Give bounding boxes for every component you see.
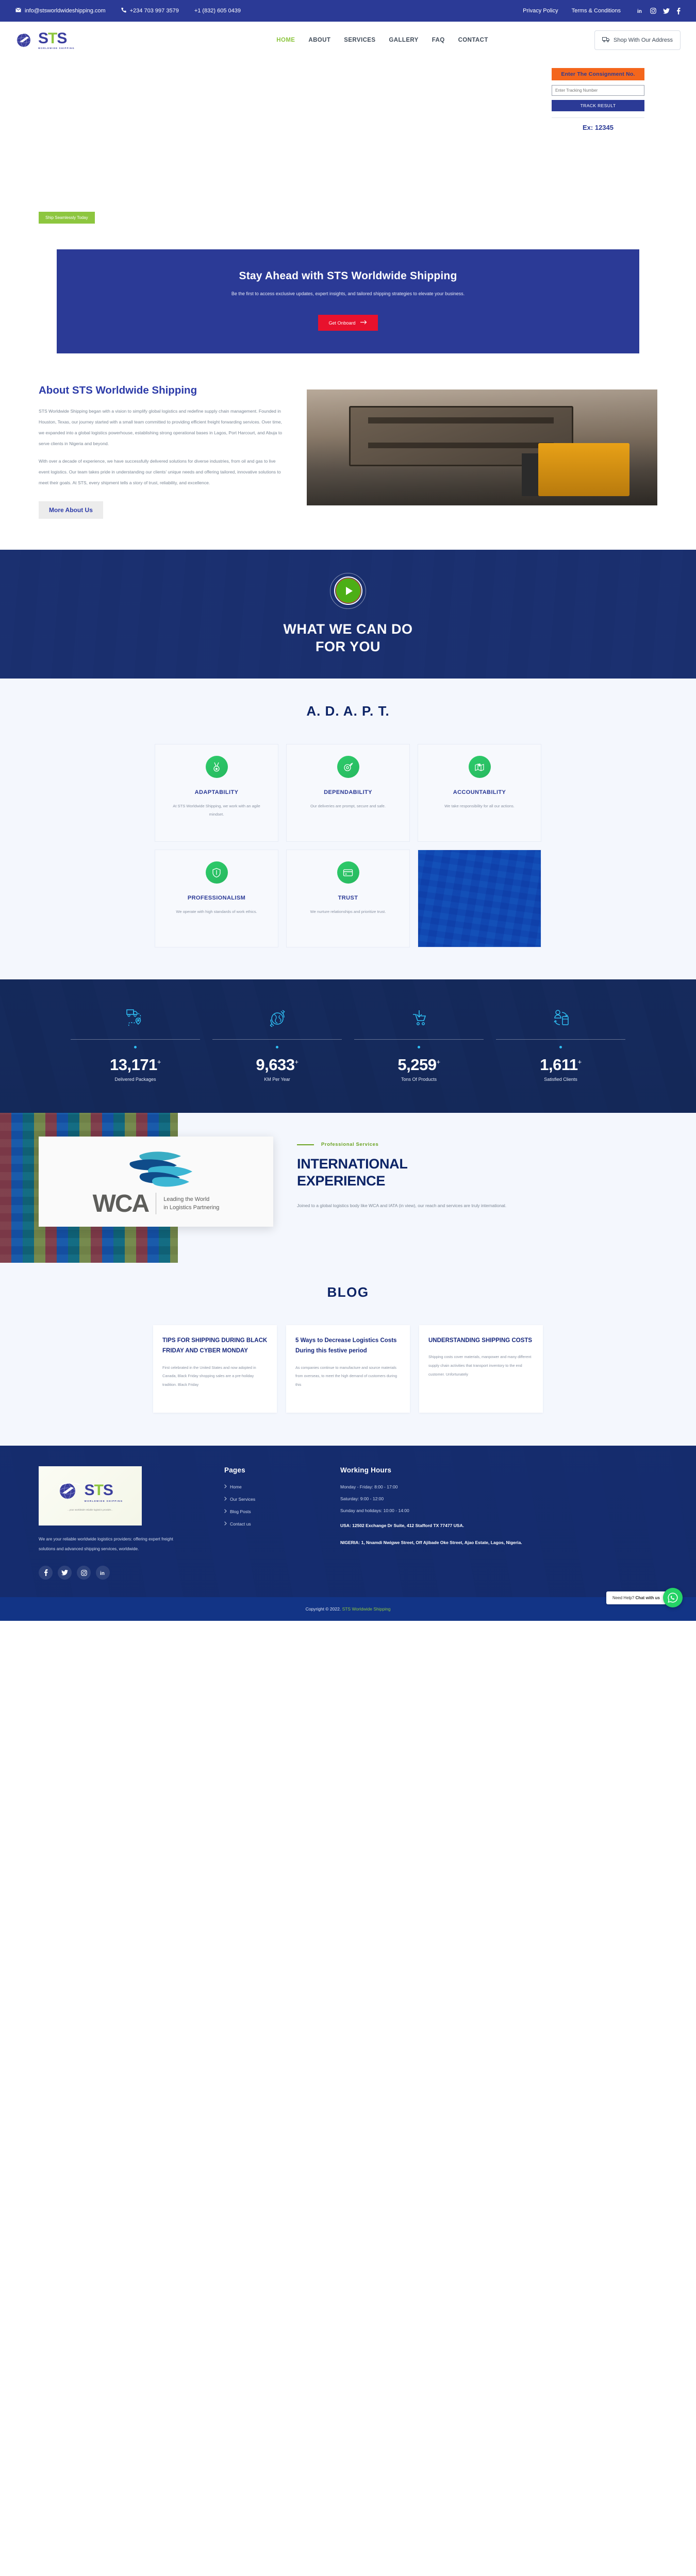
instagram-icon[interactable] bbox=[77, 1566, 91, 1580]
footer-logo-letter-t: T bbox=[94, 1482, 103, 1499]
nav-item-services[interactable]: SERVICES bbox=[344, 37, 375, 43]
about-text-column: About STS Worldwide Shipping STS Worldwi… bbox=[39, 384, 286, 519]
email-contact[interactable]: info@stsworldwideshipping.com bbox=[15, 8, 106, 14]
footer-link-blog-posts[interactable]: Blog Posts bbox=[224, 1509, 320, 1514]
top-bar-links-group: Privacy Policy Terms & Conditions in bbox=[523, 8, 681, 14]
arrow-right-icon bbox=[360, 320, 368, 326]
adapt-card-title: PROFESSIONALISM bbox=[188, 895, 245, 901]
adapt-card-text: We nurture relationships and prioritize … bbox=[310, 908, 386, 916]
newsletter-banner: Stay Ahead with STS Worldwide Shipping B… bbox=[57, 249, 639, 353]
video-heading-line-1: WHAT WE CAN DO bbox=[284, 621, 413, 637]
wca-wordmark: WCA bbox=[93, 1193, 149, 1215]
footer-hours-saturday: Saturday: 9:00 - 12:00 bbox=[340, 1496, 657, 1501]
blog-card[interactable]: 5 Ways to Decrease Logistics Costs Durin… bbox=[286, 1325, 410, 1413]
nav-item-faq[interactable]: FAQ bbox=[432, 37, 445, 43]
svg-text:in: in bbox=[100, 1571, 105, 1576]
footer-link-label: Our Services bbox=[230, 1497, 255, 1502]
adapt-card-adaptability[interactable]: ADAPTABILITY At STS Worldwide Shipping, … bbox=[155, 744, 278, 842]
adapt-card-professionalism[interactable]: PROFESSIONALISM We operate with high sta… bbox=[155, 850, 278, 947]
main-navigation: HOME ABOUT SERVICES GALLERY FAQ CONTACT bbox=[276, 37, 488, 43]
copyright-bar: Copyright © 2022. STS Worldwide Shipping… bbox=[0, 1597, 696, 1621]
play-icon[interactable] bbox=[336, 578, 361, 603]
tracking-divider bbox=[552, 117, 644, 118]
nav-item-gallery[interactable]: GALLERY bbox=[389, 37, 418, 43]
globe-plane-logo-icon bbox=[15, 31, 36, 49]
stat-divider-line bbox=[354, 1039, 484, 1040]
chevron-right-icon bbox=[224, 1484, 227, 1489]
stats-section: 13,171+ Delivered Packages 9,633+ KM Per… bbox=[0, 979, 696, 1113]
forklift-shape bbox=[538, 443, 629, 497]
cart-download-icon bbox=[348, 1006, 490, 1031]
get-onboard-label: Get Onboard bbox=[328, 320, 355, 326]
newsletter-wrapper: Stay Ahead with STS Worldwide Shipping B… bbox=[0, 249, 696, 384]
blog-card-excerpt: As companies continue to manufacture and… bbox=[295, 1364, 401, 1389]
adapt-card-text: We take responsibility for all our actio… bbox=[444, 802, 515, 810]
site-footer: STS WORLDWIDE SHIPPING ...your worldwide… bbox=[0, 1446, 696, 1597]
play-button-outer-ring bbox=[330, 573, 366, 609]
globe-refresh-icon bbox=[206, 1006, 348, 1031]
footer-link-our-services[interactable]: Our Services bbox=[224, 1497, 320, 1502]
chat-widget: Need Help? Chat with us bbox=[606, 1588, 683, 1607]
comet-icon bbox=[337, 756, 359, 778]
track-result-button[interactable]: TRACK RESULT bbox=[552, 100, 644, 111]
chevron-right-icon bbox=[224, 1497, 227, 1502]
footer-pages-column: Pages Home Our Services Blog Posts Conta… bbox=[224, 1466, 320, 1580]
stat-suffix: + bbox=[436, 1058, 440, 1066]
instagram-icon[interactable] bbox=[650, 8, 656, 14]
stat-dot bbox=[134, 1046, 137, 1048]
adapt-card-title: TRUST bbox=[338, 895, 358, 901]
blog-section: BLOG TIPS FOR SHIPPING DURING BLACK FRID… bbox=[0, 1263, 696, 1446]
phone-text-1: +234 703 997 3579 bbox=[130, 8, 179, 14]
footer-address-nigeria: NIGERIA: 1, Nnamdi Nwigwe Street, Off Aj… bbox=[340, 1538, 657, 1547]
email-text: info@stsworldwideshipping.com bbox=[25, 8, 106, 14]
footer-logo-letter-s1: S bbox=[85, 1482, 94, 1499]
tracking-number-input[interactable] bbox=[552, 85, 644, 96]
stat-suffix: + bbox=[157, 1058, 161, 1066]
logo-letter-s1: S bbox=[38, 30, 48, 47]
blog-card-title: UNDERSTANDING SHIPPING COSTS bbox=[428, 1335, 534, 1346]
tracking-title: Enter The Consignment No. bbox=[552, 68, 644, 80]
stat-number: 1,611 bbox=[540, 1056, 577, 1074]
footer-socials: in bbox=[39, 1566, 204, 1580]
about-heading: About STS Worldwide Shipping bbox=[39, 384, 286, 397]
site-header: STS WORLDWIDE SHIPPING HOME ABOUT SERVIC… bbox=[0, 22, 696, 59]
international-section: WCA Leading the World in Logistics Partn… bbox=[0, 1113, 696, 1263]
stat-suffix: + bbox=[578, 1058, 582, 1066]
adapt-card-text: Our deliveries are prompt, secure and sa… bbox=[310, 802, 386, 810]
stat-number: 9,633 bbox=[256, 1056, 294, 1074]
about-paragraph-1: STS Worldwide Shipping began with a visi… bbox=[39, 406, 286, 449]
kicker-label: Professional Services bbox=[321, 1142, 378, 1147]
footer-hours-column: Working Hours Monday - Friday: 8:00 - 17… bbox=[340, 1466, 657, 1580]
wca-logo-card: WCA Leading the World in Logistics Partn… bbox=[39, 1137, 273, 1227]
logo-letter-t: T bbox=[48, 30, 57, 47]
footer-hours-sunday: Sunday and holidays: 10:00 - 14:00 bbox=[340, 1508, 657, 1513]
nav-item-about[interactable]: ABOUT bbox=[308, 37, 330, 43]
shield-icon bbox=[206, 861, 228, 884]
blog-title: BLOG bbox=[0, 1284, 696, 1300]
shop-with-our-address-button[interactable]: Shop With Our Address bbox=[594, 30, 681, 50]
get-onboard-button[interactable]: Get Onboard bbox=[318, 315, 377, 331]
stat-dot bbox=[418, 1046, 420, 1048]
map-pin-icon bbox=[469, 756, 491, 778]
blog-card-title: 5 Ways to Decrease Logistics Costs Durin… bbox=[295, 1335, 401, 1356]
blog-card-excerpt: Shipping costs cover materials, manpower… bbox=[428, 1353, 534, 1379]
stat-dot bbox=[559, 1046, 562, 1048]
footer-link-contact-us[interactable]: Contact us bbox=[224, 1521, 320, 1527]
adapt-section: A. D. A. P. T. ADAPTABILITY At STS World… bbox=[0, 679, 696, 979]
wca-tagline-line-2: in Logistics Partnering bbox=[163, 1205, 219, 1211]
linkedin-icon[interactable]: in bbox=[637, 8, 643, 14]
phone-contact-2[interactable]: +1 (832) 605 0439 bbox=[194, 8, 241, 14]
stat-dot bbox=[276, 1046, 278, 1048]
stat-km-per-year: 9,633+ KM Per Year bbox=[206, 1006, 348, 1082]
international-kicker: Professional Services bbox=[297, 1142, 657, 1147]
footer-hours-heading: Working Hours bbox=[340, 1466, 657, 1474]
kicker-dash bbox=[297, 1144, 314, 1145]
wca-birds-icon bbox=[115, 1149, 197, 1192]
stat-number: 13,171 bbox=[110, 1056, 157, 1074]
phone-icon bbox=[121, 7, 126, 14]
wca-divider bbox=[156, 1193, 156, 1214]
top-bar-socials: in bbox=[637, 8, 681, 14]
footer-link-label: Home bbox=[230, 1484, 242, 1489]
adapt-card-dependability[interactable]: DEPENDABILITY Our deliveries are prompt,… bbox=[286, 744, 410, 842]
adapt-card-text: At STS Worldwide Shipping, we work with … bbox=[165, 802, 268, 819]
adapt-container-yard-image bbox=[418, 850, 541, 947]
adapt-grid: ADAPTABILITY At STS Worldwide Shipping, … bbox=[0, 744, 696, 947]
hero-section: Enter The Consignment No. TRACK RESULT E… bbox=[0, 59, 696, 249]
play-triangle bbox=[346, 587, 353, 595]
copyright-text: Copyright © 2022. STS Worldwide Shipping bbox=[0, 1606, 696, 1612]
blog-card-excerpt: First celebrated in the United States an… bbox=[162, 1364, 268, 1389]
medal-icon bbox=[206, 756, 228, 778]
stat-value: 5,259+ bbox=[348, 1056, 490, 1074]
terms-conditions-link[interactable]: Terms & Conditions bbox=[572, 8, 621, 14]
international-body: Joined to a global logistics body like W… bbox=[297, 1201, 513, 1211]
facebook-icon[interactable] bbox=[676, 8, 681, 14]
stat-value: 13,171+ bbox=[64, 1056, 206, 1074]
stat-satisfied-clients: 1,611+ Satisfied Clients bbox=[490, 1006, 632, 1082]
adapt-card-title: ACCOUNTABILITY bbox=[453, 789, 506, 795]
stat-label: Tons Of Products bbox=[348, 1077, 490, 1082]
adapt-card-text: We operate with high standards of work e… bbox=[176, 908, 257, 916]
adapt-title: A. D. A. P. T. bbox=[0, 703, 696, 719]
international-inner: WCA Leading the World in Logistics Partn… bbox=[0, 1137, 696, 1227]
adapt-card-accountability[interactable]: ACCOUNTABILITY We take responsibility fo… bbox=[418, 744, 541, 842]
stat-value: 1,611+ bbox=[490, 1056, 632, 1074]
blog-grid: TIPS FOR SHIPPING DURING BLACK FRIDAY AN… bbox=[0, 1325, 696, 1413]
linkedin-icon[interactable]: in bbox=[96, 1566, 110, 1580]
footer-link-label: Blog Posts bbox=[230, 1509, 251, 1514]
international-heading: INTERNATIONAL EXPERIENCE bbox=[297, 1156, 657, 1190]
about-section: About STS Worldwide Shipping STS Worldwi… bbox=[0, 384, 696, 550]
truck-icon bbox=[602, 37, 610, 44]
blog-card[interactable]: UNDERSTANDING SHIPPING COSTS Shipping co… bbox=[419, 1325, 543, 1413]
chevron-right-icon bbox=[224, 1509, 227, 1514]
adapt-card-trust[interactable]: TRUST We nurture relationships and prior… bbox=[286, 850, 410, 947]
footer-brand-column: STS WORLDWIDE SHIPPING ...your worldwide… bbox=[39, 1466, 204, 1580]
play-button-ring bbox=[334, 577, 362, 605]
stats-grid: 13,171+ Delivered Packages 9,633+ KM Per… bbox=[64, 1006, 632, 1082]
footer-logo-subtitle: WORLDWIDE SHIPPING bbox=[85, 1500, 123, 1502]
delivery-route-icon bbox=[64, 1006, 206, 1031]
copyright-prefix: Copyright © 2022. bbox=[306, 1606, 342, 1612]
stat-label: Satisfied Clients bbox=[490, 1077, 632, 1082]
stat-divider-line bbox=[496, 1039, 625, 1040]
more-about-us-button[interactable]: More About Us bbox=[39, 501, 103, 519]
facebook-icon[interactable] bbox=[39, 1566, 53, 1580]
twitter-icon[interactable] bbox=[663, 8, 670, 14]
international-text-column: Professional Services INTERNATIONAL EXPE… bbox=[297, 1137, 657, 1227]
chevron-right-icon bbox=[224, 1521, 227, 1527]
footer-link-label: Contact us bbox=[230, 1521, 251, 1527]
footer-link-home[interactable]: Home bbox=[224, 1484, 320, 1489]
whatsapp-icon[interactable] bbox=[663, 1588, 683, 1607]
stat-delivered-packages: 13,171+ Delivered Packages bbox=[64, 1006, 206, 1082]
top-bar: info@stsworldwideshipping.com +234 703 9… bbox=[0, 0, 696, 22]
twitter-icon[interactable] bbox=[58, 1566, 72, 1580]
footer-logo-tagline: ...your worldwide reliable logistics pro… bbox=[68, 1509, 113, 1511]
footer-pages-heading: Pages bbox=[224, 1466, 320, 1474]
footer-hours-weekday: Monday - Friday: 8:00 - 17:00 bbox=[340, 1484, 657, 1489]
svg-text:in: in bbox=[637, 9, 642, 14]
adapt-card-title: ADAPTABILITY bbox=[195, 789, 239, 795]
footer-description: We are your reliable worldwide logistics… bbox=[39, 1535, 188, 1554]
phone-text-2: +1 (832) 605 0439 bbox=[194, 8, 241, 14]
wca-wordmark-row: WCA Leading the World in Logistics Partn… bbox=[93, 1193, 220, 1215]
nav-item-home[interactable]: HOME bbox=[276, 37, 295, 43]
international-heading-line-2: EXPERIENCE bbox=[297, 1173, 385, 1189]
wca-tagline-line-1: Leading the World bbox=[163, 1196, 209, 1202]
card-icon bbox=[337, 861, 359, 884]
blog-card[interactable]: TIPS FOR SHIPPING DURING BLACK FRIDAY AN… bbox=[153, 1325, 277, 1413]
stat-suffix: + bbox=[294, 1058, 298, 1066]
ship-seamlessly-badge[interactable]: Ship Seamlessly Today bbox=[39, 212, 95, 224]
blog-card-title: TIPS FOR SHIPPING DURING BLACK FRIDAY AN… bbox=[162, 1335, 268, 1356]
globe-plane-logo-icon bbox=[58, 1481, 81, 1504]
about-paragraph-2: With over a decade of experience, we hav… bbox=[39, 456, 286, 488]
chat-bubble-normal: Need Help? bbox=[612, 1596, 635, 1600]
footer-logo-letter-s2: S bbox=[103, 1482, 113, 1499]
envelope-icon bbox=[15, 8, 21, 14]
video-hero-heading: WHAT WE CAN DO FOR YOU bbox=[284, 620, 413, 656]
logo-letter-s2: S bbox=[57, 30, 67, 47]
stat-number: 5,259 bbox=[397, 1056, 436, 1074]
copyright-company: STS Worldwide Shipping bbox=[342, 1606, 391, 1612]
stat-divider-line bbox=[212, 1039, 342, 1040]
footer-logo-row: STS WORLDWIDE SHIPPING bbox=[58, 1481, 123, 1504]
stat-label: KM Per Year bbox=[206, 1077, 348, 1082]
video-hero-section: WHAT WE CAN DO FOR YOU bbox=[0, 550, 696, 679]
logo-subtitle: WORLDWIDE SHIPPING bbox=[38, 47, 75, 49]
nav-item-contact[interactable]: CONTACT bbox=[458, 37, 488, 43]
adapt-card-title: DEPENDABILITY bbox=[324, 789, 372, 795]
video-heading-line-2: FOR YOU bbox=[316, 639, 380, 654]
client-return-icon bbox=[490, 1006, 632, 1031]
newsletter-heading: Stay Ahead with STS Worldwide Shipping bbox=[77, 270, 619, 282]
chat-bubble-bold: Chat with us bbox=[635, 1596, 660, 1600]
tracking-widget: Enter The Consignment No. TRACK RESULT E… bbox=[552, 68, 644, 131]
stat-label: Delivered Packages bbox=[64, 1077, 206, 1082]
stat-value: 9,633+ bbox=[206, 1056, 348, 1074]
about-warehouse-image bbox=[307, 389, 657, 505]
newsletter-subtext: Be the first to access exclusive updates… bbox=[77, 291, 619, 296]
chat-bubble[interactable]: Need Help? Chat with us bbox=[606, 1591, 666, 1604]
top-bar-contact-group: info@stsworldwideshipping.com +234 703 9… bbox=[15, 7, 241, 14]
stat-tons-of-products: 5,259+ Tons Of Products bbox=[348, 1006, 490, 1082]
footer-address-usa: USA: 12502 Exchange Dr Suite, 412 Staffo… bbox=[340, 1521, 657, 1530]
international-heading-line-1: INTERNATIONAL bbox=[297, 1156, 408, 1172]
tracking-example: Ex: 12345 bbox=[552, 124, 644, 131]
site-logo[interactable]: STS WORLDWIDE SHIPPING bbox=[15, 31, 170, 49]
footer-logo: STS WORLDWIDE SHIPPING ...your worldwide… bbox=[39, 1466, 142, 1526]
phone-contact-1[interactable]: +234 703 997 3579 bbox=[121, 7, 179, 14]
privacy-policy-link[interactable]: Privacy Policy bbox=[523, 8, 558, 14]
wca-tagline: Leading the World in Logistics Partnerin… bbox=[163, 1195, 219, 1212]
stat-divider-line bbox=[71, 1039, 200, 1040]
shop-button-label: Shop With Our Address bbox=[614, 37, 673, 43]
